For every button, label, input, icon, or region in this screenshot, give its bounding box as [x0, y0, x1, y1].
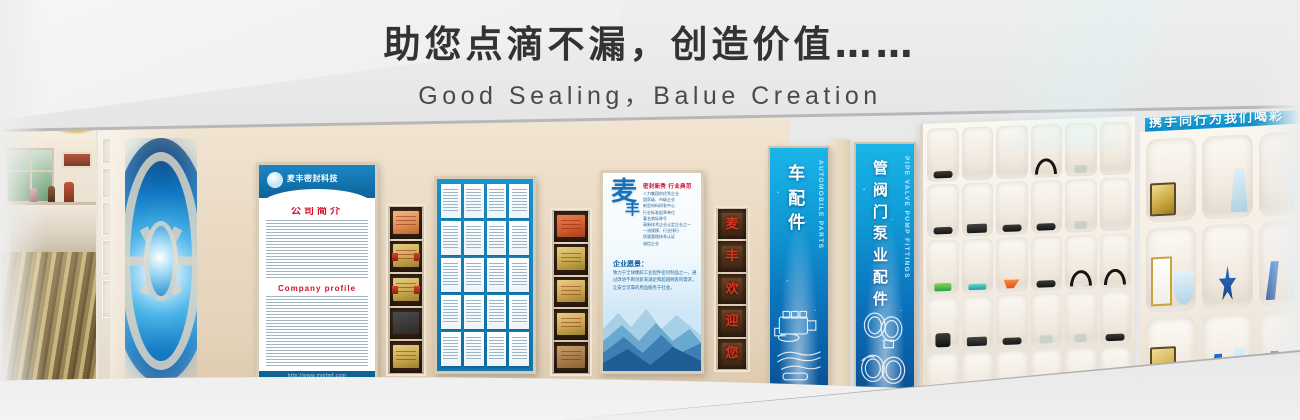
- list-item: 诚信企业: [643, 241, 695, 247]
- award-cell: [1259, 220, 1300, 306]
- welcome-niche: 丰: [718, 241, 746, 271]
- certificate: [441, 332, 461, 366]
- banner-title-cn: 车配件: [782, 162, 811, 236]
- profile-title-en: Company profile: [266, 284, 368, 293]
- certificate-display-board: [434, 176, 536, 374]
- certificate: [487, 258, 507, 292]
- plaque-niche-column-mid: [550, 208, 592, 376]
- headline-cn: 助您点滴不漏，创造价值……: [0, 22, 1300, 68]
- plaque-niche: [554, 277, 588, 308]
- certificate: [487, 332, 507, 366]
- welcome-niche: 迎: [718, 306, 746, 336]
- profile-body-cn: Company profile: [259, 217, 375, 371]
- poster-heading-red: 密封新秀 行业典范: [643, 182, 695, 190]
- certificate: [464, 332, 484, 366]
- plaque-niche-column-left: [386, 204, 426, 376]
- award-cell: [1146, 226, 1196, 312]
- poster-header-band: 麦丰密封科技: [259, 165, 375, 198]
- headline-en: Good Sealing，Balue Creation: [0, 76, 1300, 112]
- award-cell: [1259, 310, 1300, 396]
- award-cell: [1259, 131, 1300, 217]
- certificate: [487, 221, 507, 255]
- certificate: [509, 221, 529, 255]
- award-cell: [1202, 134, 1252, 220]
- welcome-char: 丰: [722, 246, 741, 268]
- award-trophy-cabinet: [1140, 123, 1300, 410]
- chandelier-light: [52, 120, 98, 134]
- decorative-statue: [64, 182, 74, 204]
- banner-title-en: PIPE VALVE PUMP FITTINGS: [903, 156, 910, 279]
- profile-footer-url: http://www.mmfmf.com: [259, 371, 375, 381]
- globe-wall-graphic: [125, 138, 197, 383]
- banner-title-en: AUTOMOBILE PARTS: [817, 160, 824, 249]
- certificate: [441, 221, 461, 255]
- certificate: [464, 184, 484, 218]
- award-cell: [1146, 316, 1196, 402]
- award-cell: [1202, 313, 1252, 399]
- certificate: [464, 295, 484, 329]
- plaque-niche: [554, 211, 588, 242]
- calligraphy-char-bottom: 丰: [625, 203, 640, 217]
- vision-mountain-poster: 麦 丰 密封新秀 行业典范 人力集团的优秀企业 国家级、市级企业 新型材料研发中…: [600, 170, 704, 374]
- mountain-illustration: [603, 283, 701, 371]
- certificate: [441, 184, 461, 218]
- calligraphy-mark: 麦 丰: [611, 181, 640, 217]
- certificate: [487, 295, 507, 329]
- certificate: [464, 221, 484, 255]
- award-cell: [1146, 137, 1196, 223]
- clamp-ring-icon: [856, 301, 914, 390]
- plaque-niche: [390, 308, 422, 340]
- plaque-niche: [390, 274, 422, 306]
- engine-icon: [770, 304, 828, 388]
- certificate: [487, 184, 507, 218]
- plaque-niche: [554, 342, 588, 373]
- welcome-niche: 麦: [718, 209, 746, 239]
- company-logo-icon: [267, 172, 283, 188]
- certificate: [509, 184, 529, 218]
- welcome-char: 欢: [722, 278, 741, 300]
- vision-title: 企业愿景：: [613, 259, 648, 269]
- banner-title-cn: 管阀门泵业配件: [866, 158, 894, 310]
- plaque-niche: [390, 341, 422, 373]
- welcome-char: 麦: [722, 213, 741, 235]
- certificate: [509, 258, 529, 292]
- banner-automobile-parts: 车配件 AUTOMOBILE PARTS: [768, 146, 830, 396]
- globe-hub: [144, 221, 178, 301]
- wall-picture: [62, 152, 92, 168]
- banner-pipe-valve-pump: 管阀门泵业配件 PIPE VALVE PUMP FITTINGS: [854, 142, 916, 398]
- welcome-niche: 您: [718, 339, 746, 369]
- company-logo-text: 麦丰密封科技: [287, 173, 338, 184]
- certificate: [441, 258, 461, 292]
- welcome-char: 迎: [722, 310, 741, 332]
- hero-headline: 助您点滴不漏，创造价值…… Good Sealing，Balue Creatio…: [0, 22, 1300, 112]
- plaque-niche: [390, 207, 422, 239]
- certificate: [464, 258, 484, 292]
- plaque-niche: [554, 309, 588, 340]
- plaque-niche: [554, 244, 588, 275]
- wall-divider: [828, 140, 850, 412]
- award-cell: [1202, 223, 1252, 309]
- company-profile-poster: 麦丰密封科技 公司简介 Company profile http://www.m…: [256, 162, 378, 384]
- plaque-niche: [390, 241, 422, 273]
- certificate: [509, 332, 529, 366]
- certificate: [509, 295, 529, 329]
- product-sample-shelf: [920, 116, 1135, 412]
- welcome-char: 您: [722, 343, 741, 365]
- poster-achievement-list: 人力集团的优秀企业 国家级、市级企业 新型材料研发中心 行业标准起草单位 著名商…: [643, 191, 695, 247]
- company-hero-banner: 麦丰密封科技 公司简介 Company profile http://www.m…: [0, 0, 1300, 420]
- certificate: [441, 295, 461, 329]
- reception-desk: [10, 202, 96, 252]
- welcome-niche-column: 麦 丰 欢 迎 您: [714, 206, 750, 372]
- welcome-niche: 欢: [718, 274, 746, 304]
